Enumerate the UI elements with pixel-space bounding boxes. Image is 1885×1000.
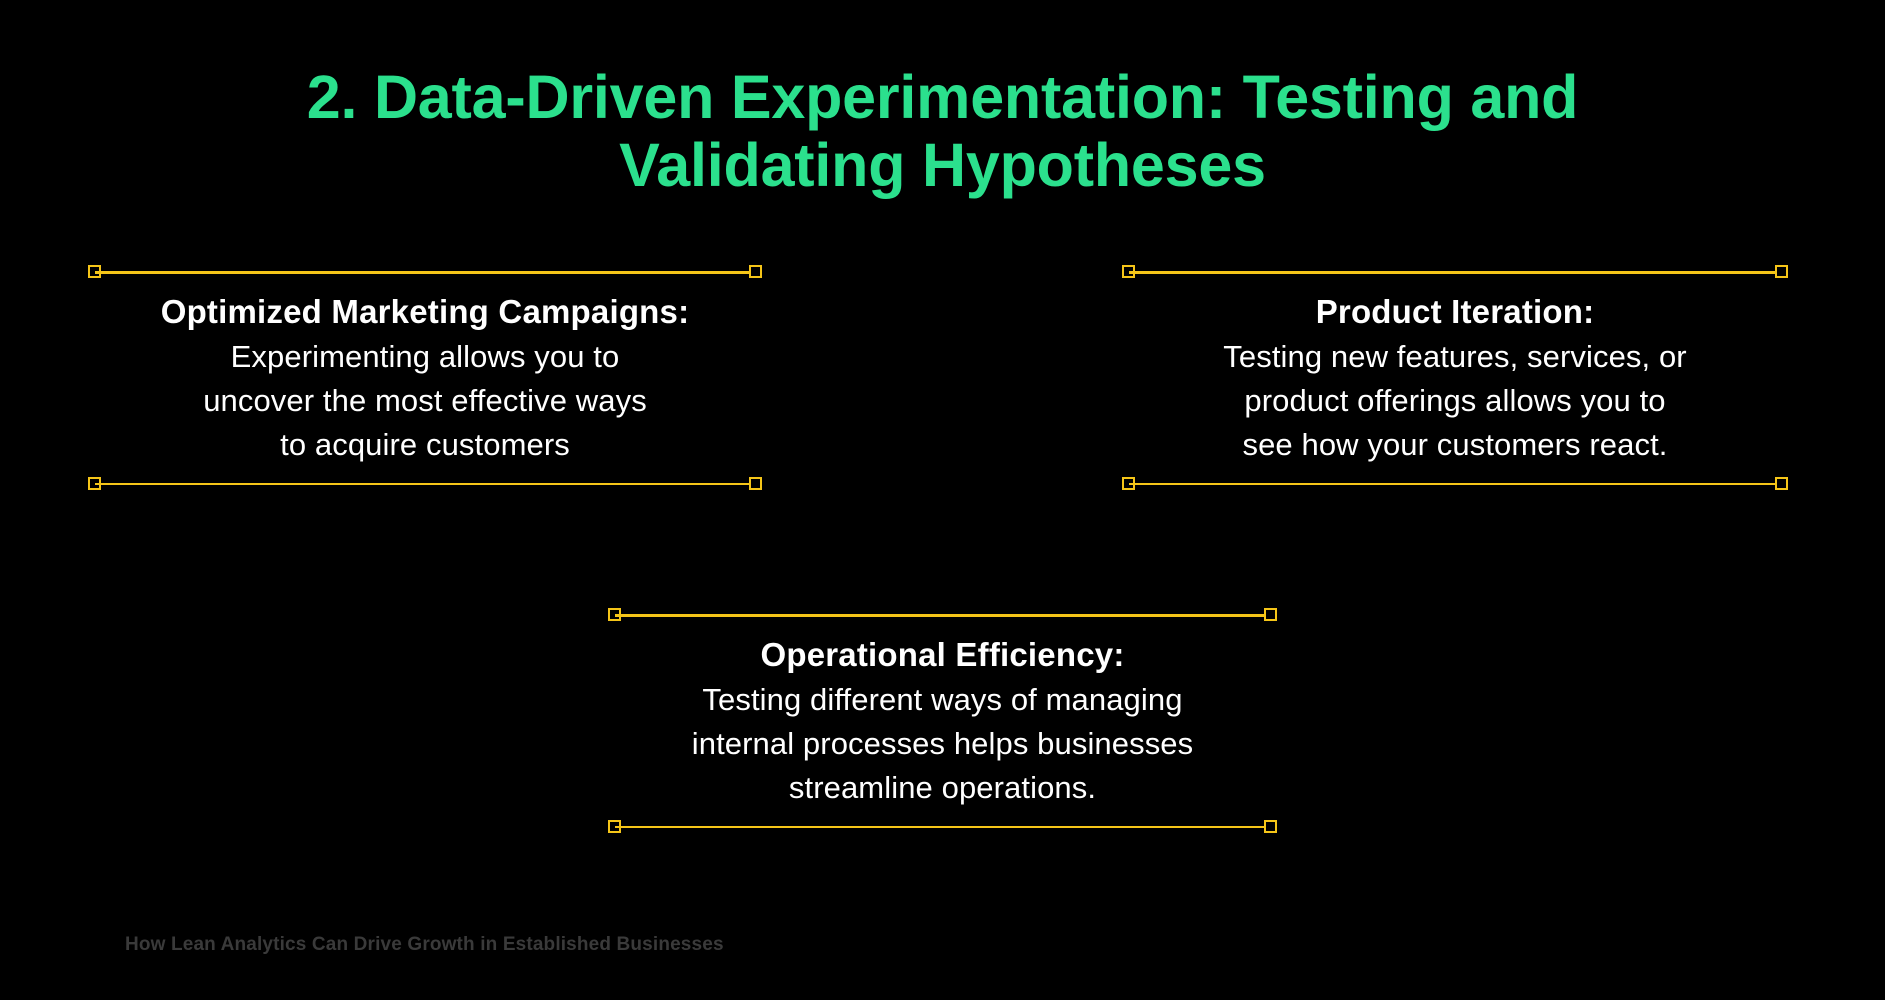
card-operational-efficiency: Operational Efficiency: Testing differen…	[608, 608, 1277, 834]
divider-bar	[95, 483, 755, 486]
divider-endpoint-square-right-icon	[1264, 820, 1277, 833]
divider-rule-bottom	[88, 477, 762, 491]
card-body-line: internal processes helps businesses	[608, 722, 1277, 766]
card-body-line: Testing new features, services, or	[1122, 335, 1788, 379]
card-body-line: streamline operations.	[608, 766, 1277, 810]
divider-rule-top	[608, 608, 1277, 622]
card-body: Experimenting allows you to uncover the …	[88, 335, 762, 467]
card-heading: Product Iteration:	[1122, 291, 1788, 333]
card-body-line: Testing different ways of managing	[608, 678, 1277, 722]
divider-bar	[615, 614, 1270, 617]
divider-rule-bottom	[608, 820, 1277, 834]
card-optimized-marketing-campaigns: Optimized Marketing Campaigns: Experimen…	[88, 265, 762, 491]
divider-rule-top	[88, 265, 762, 279]
divider-rule-bottom	[1122, 477, 1788, 491]
card-body: Testing new features, services, or produ…	[1122, 335, 1788, 467]
slide-title-line-2: Validating Hypotheses	[230, 131, 1655, 199]
divider-rule-top	[1122, 265, 1788, 279]
divider-bar	[95, 271, 755, 274]
divider-endpoint-square-right-icon	[749, 265, 762, 278]
card-body-line: to acquire customers	[88, 423, 762, 467]
divider-bar	[1129, 271, 1781, 274]
divider-bar	[615, 826, 1270, 829]
divider-endpoint-square-right-icon	[1775, 265, 1788, 278]
divider-endpoint-square-right-icon	[1264, 608, 1277, 621]
divider-endpoint-square-right-icon	[749, 477, 762, 490]
divider-endpoint-square-right-icon	[1775, 477, 1788, 490]
card-product-iteration: Product Iteration: Testing new features,…	[1122, 265, 1788, 491]
slide-canvas: 2. Data-Driven Experimentation: Testing …	[0, 0, 1885, 1000]
slide-title: 2. Data-Driven Experimentation: Testing …	[0, 63, 1885, 200]
card-body-line: Experimenting allows you to	[88, 335, 762, 379]
card-body: Testing different ways of managing inter…	[608, 678, 1277, 810]
card-heading: Optimized Marketing Campaigns:	[88, 291, 762, 333]
slide-footer-caption: How Lean Analytics Can Drive Growth in E…	[125, 934, 724, 956]
divider-bar	[1129, 483, 1781, 486]
slide-title-line-1: 2. Data-Driven Experimentation: Testing …	[230, 63, 1655, 131]
card-heading: Operational Efficiency:	[608, 634, 1277, 676]
card-body-line: uncover the most effective ways	[88, 379, 762, 423]
card-body-line: see how your customers react.	[1122, 423, 1788, 467]
card-body-line: product offerings allows you to	[1122, 379, 1788, 423]
